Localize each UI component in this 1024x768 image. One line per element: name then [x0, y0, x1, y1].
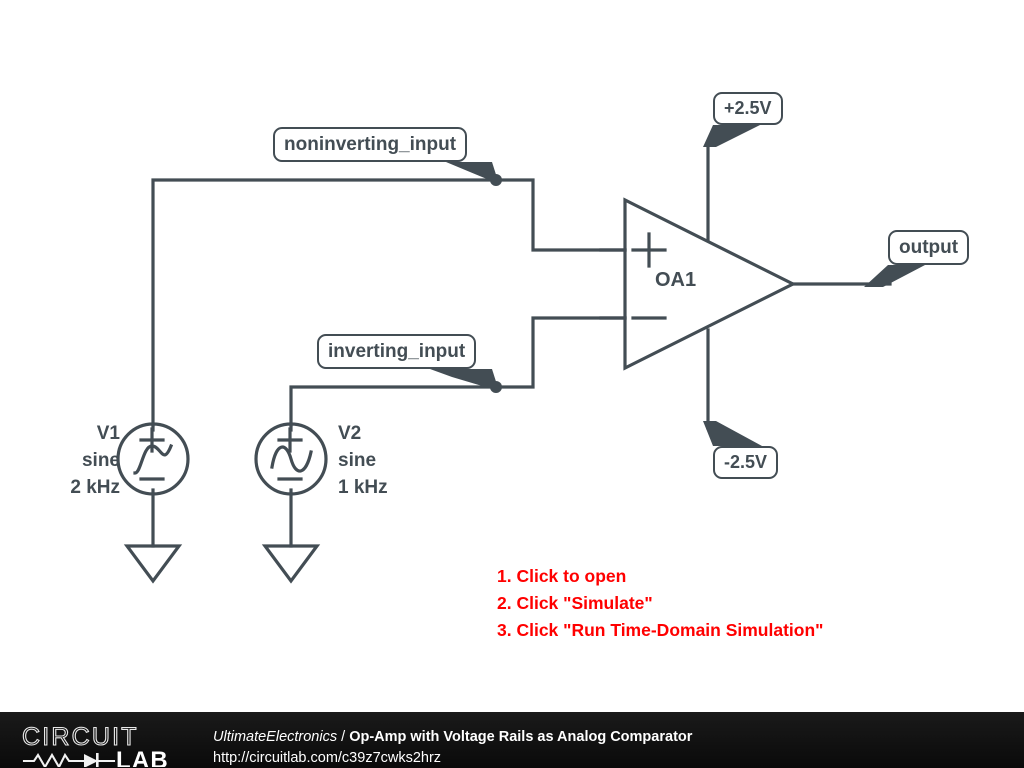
v2-frequency: 1 kHz — [338, 475, 428, 502]
v2-ground-symbol — [265, 546, 317, 581]
circuitlab-logo: CIRCUIT LAB — [22, 723, 197, 767]
net-label-output[interactable]: output — [888, 230, 969, 265]
footer-separator: / — [341, 729, 345, 745]
schematic-canvas[interactable]: noninverting_input inverting_input outpu… — [0, 0, 1024, 768]
flag-tail-output — [864, 265, 925, 287]
v1-type: sine — [60, 448, 120, 475]
logo-resistor-icon — [24, 755, 84, 767]
opamp-designator-label: OA1 — [655, 269, 696, 292]
instruction-step-1: 1. Click to open — [497, 563, 823, 590]
instruction-step-2: 2. Click "Simulate" — [497, 590, 823, 617]
logo-diode-icon — [84, 754, 98, 767]
net-label-noninverting-input[interactable]: noninverting_input — [273, 127, 467, 162]
v2-type: sine — [338, 448, 428, 475]
v1-ground-symbol — [127, 546, 179, 581]
net-label-positive-rail[interactable]: +2.5V — [713, 92, 783, 125]
v1-plus-glyph — [141, 429, 163, 451]
v2-designator: V2 — [338, 421, 428, 448]
footer-url[interactable]: http://circuitlab.com/c39z7cwks2hrz — [213, 749, 692, 768]
instruction-step-3: 3. Click "Run Time-Domain Simulation" — [497, 617, 823, 644]
flag-tail-vminus — [703, 421, 762, 446]
v1-frequency: 2 kHz — [60, 475, 120, 502]
v1-designator: V1 — [60, 421, 120, 448]
flag-tail-vplus — [703, 125, 760, 147]
footer-text-block: UltimateElectronics / Op-Amp with Voltag… — [213, 728, 692, 767]
opamp-plus-glyph — [633, 234, 665, 266]
footer-brand: UltimateElectronics — [213, 729, 337, 745]
footer-title-line: UltimateElectronics / Op-Amp with Voltag… — [213, 728, 692, 747]
logo-lab-text: LAB — [116, 747, 169, 767]
instruction-list: 1. Click to open 2. Click "Simulate" 3. … — [497, 563, 823, 644]
logo-diode-bar — [96, 753, 99, 767]
schematic-drawing — [0, 0, 1024, 768]
net-label-negative-rail[interactable]: -2.5V — [713, 446, 778, 479]
v2-label-block: V2 sine 1 kHz — [338, 421, 428, 502]
v1-label-block: V1 sine 2 kHz — [60, 421, 120, 502]
footer-title: Op-Amp with Voltage Rails as Analog Comp… — [349, 729, 692, 745]
net-label-inverting-input[interactable]: inverting_input — [317, 334, 476, 369]
